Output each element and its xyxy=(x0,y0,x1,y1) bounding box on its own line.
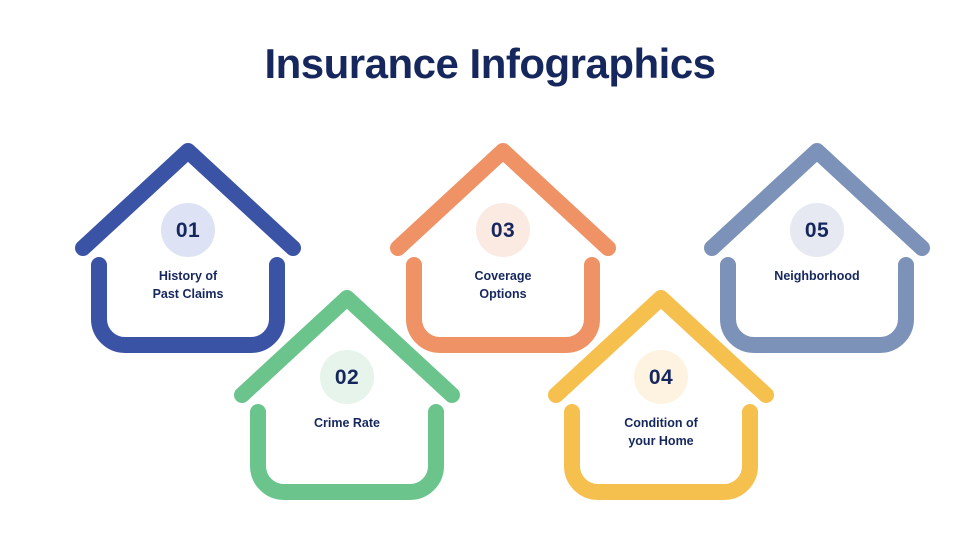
step-label-line-1: Coverage xyxy=(418,267,588,285)
step-label: Neighborhood xyxy=(732,267,902,285)
step-label-line-1: Crime Rate xyxy=(262,414,432,432)
house-card-05[interactable]: 05Neighborhood xyxy=(702,141,932,361)
step-number-text: 01 xyxy=(176,220,200,241)
step-label-line-1: History of xyxy=(103,267,273,285)
step-number-text: 05 xyxy=(805,220,829,241)
step-number-badge: 04 xyxy=(634,350,688,404)
step-number-badge: 01 xyxy=(161,203,215,257)
step-number-badge: 05 xyxy=(790,203,844,257)
step-label: Condition ofyour Home xyxy=(576,414,746,450)
step-number-text: 03 xyxy=(491,220,515,241)
step-label-line-2: your Home xyxy=(576,432,746,450)
step-number-text: 04 xyxy=(649,367,673,388)
step-label-line-1: Neighborhood xyxy=(732,267,902,285)
infographic-slide: Insurance Infographics 01History ofPast … xyxy=(0,0,980,551)
house-steps-group: 01History ofPast Claims02Crime Rate03Cov… xyxy=(0,0,980,551)
step-number-text: 02 xyxy=(335,367,359,388)
step-label: Crime Rate xyxy=(262,414,432,432)
step-label-line-1: Condition of xyxy=(576,414,746,432)
step-number-badge: 03 xyxy=(476,203,530,257)
step-number-badge: 02 xyxy=(320,350,374,404)
